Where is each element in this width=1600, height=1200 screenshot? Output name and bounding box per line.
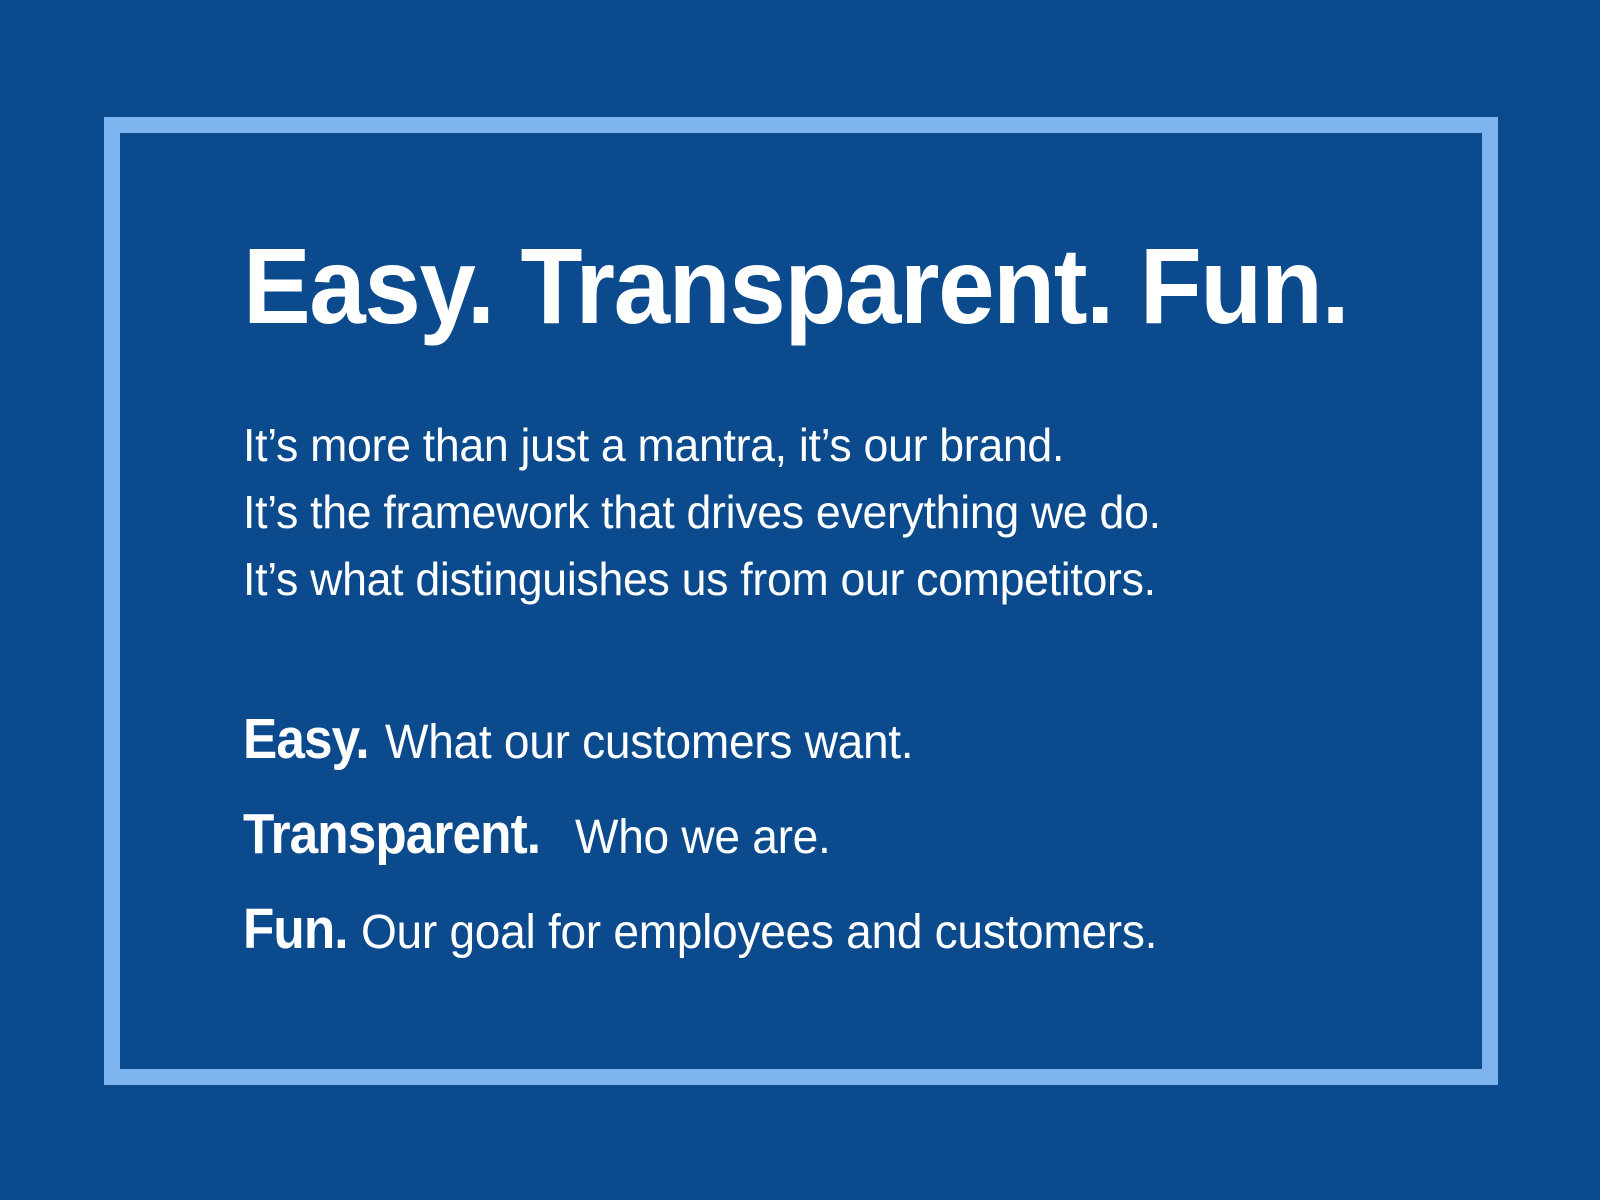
pillar-item-easy: Easy.What our customers want. bbox=[243, 699, 1423, 794]
brand-mantra-slide: Easy. Transparent. Fun. It’s more than j… bbox=[0, 0, 1600, 1200]
pillar-item-transparent: Transparent.Who we are. bbox=[243, 794, 1423, 889]
mantra-paragraph: It’s more than just a mantra, it’s our b… bbox=[243, 412, 1423, 613]
pillar-term-transparent: Transparent. bbox=[243, 794, 540, 875]
pillar-description-transparent: Who we are. bbox=[575, 797, 830, 878]
mantra-line-3: It’s what distinguishes us from our comp… bbox=[243, 546, 1388, 613]
mantra-line-1: It’s more than just a mantra, it’s our b… bbox=[243, 412, 1388, 479]
pillar-item-fun: Fun.Our goal for employees and customers… bbox=[243, 889, 1423, 984]
pillar-term-fun: Fun. bbox=[243, 889, 348, 970]
pillar-term-easy: Easy. bbox=[243, 699, 369, 780]
mantra-line-2: It’s the framework that drives everythin… bbox=[243, 479, 1388, 546]
slide-content: Easy. Transparent. Fun. It’s more than j… bbox=[243, 232, 1423, 984]
slide-headline: Easy. Transparent. Fun. bbox=[243, 232, 1352, 340]
pillars-list: Easy.What our customers want. Transparen… bbox=[243, 699, 1423, 984]
pillar-description-fun: Our goal for employees and customers. bbox=[361, 892, 1157, 973]
pillar-description-easy: What our customers want. bbox=[385, 702, 913, 783]
